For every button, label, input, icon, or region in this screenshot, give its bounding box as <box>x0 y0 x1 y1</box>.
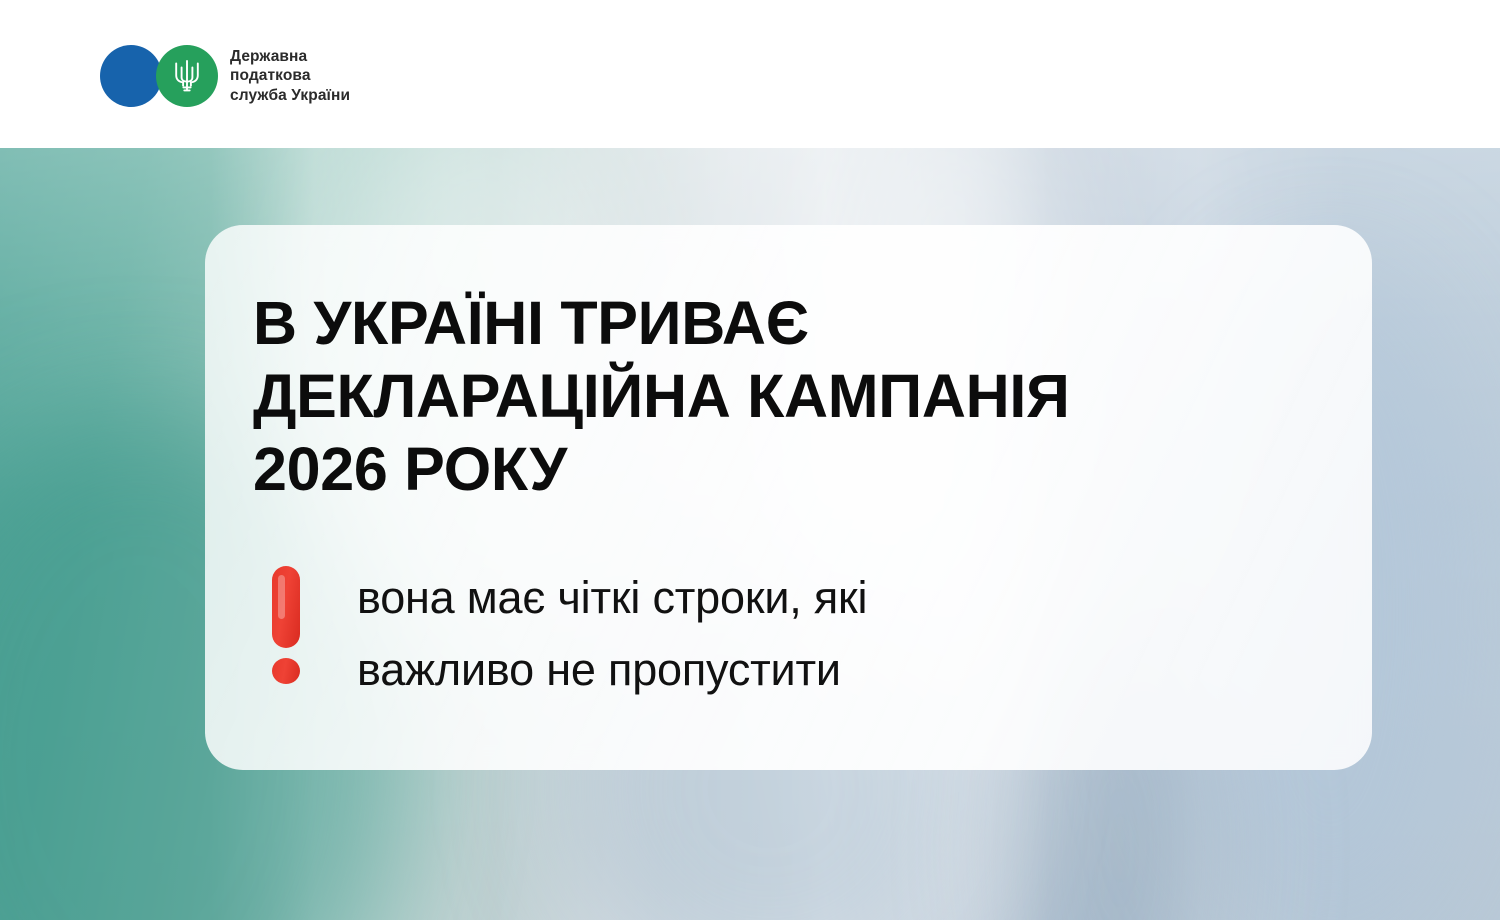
page-title: В УКРАЇНІ ТРИВАЄ ДЕКЛАРАЦІЙНА КАМПАНІЯ 2… <box>253 287 1332 506</box>
callout-row: вона має чіткі строки, які важливо не пр… <box>253 562 1332 706</box>
ukraine-trident-icon <box>156 45 218 107</box>
content-card: В УКРАЇНІ ТРИВАЄ ДЕКЛАРАЦІЙНА КАМПАНІЯ 2… <box>205 225 1372 770</box>
headline-line-3: 2026 РОКУ <box>253 433 1332 506</box>
logo-text-line-2: податкова <box>230 66 350 86</box>
card-inner: В УКРАЇНІ ТРИВАЄ ДЕКЛАРАЦІЙНА КАМПАНІЯ 2… <box>253 287 1332 706</box>
poster-stage: В УКРАЇНІ ТРИВАЄ ДЕКЛАРАЦІЙНА КАМПАНІЯ 2… <box>0 0 1500 920</box>
header-band: Державна податкова служба України <box>0 0 1500 148</box>
callout-line-2: важливо не пропустити <box>357 634 867 706</box>
agency-logo-text: Державна податкова служба України <box>230 47 350 106</box>
logo-blue-circle-icon <box>100 45 162 107</box>
headline-line-1: В УКРАЇНІ ТРИВАЄ <box>253 287 1332 360</box>
logo-text-line-1: Державна <box>230 47 350 67</box>
logo-marks <box>100 45 220 107</box>
headline-line-2: ДЕКЛАРАЦІЙНА КАМПАНІЯ <box>253 360 1332 433</box>
exclamation-bar <box>272 566 300 648</box>
red-exclamation-icon <box>265 566 307 684</box>
callout-text: вона має чіткі строки, які важливо не пр… <box>357 562 867 706</box>
callout-line-1: вона має чіткі строки, які <box>357 562 867 634</box>
exclamation-dot <box>272 658 300 684</box>
agency-logo[interactable]: Державна податкова служба України <box>100 45 350 107</box>
logo-text-line-3: служба України <box>230 86 350 106</box>
